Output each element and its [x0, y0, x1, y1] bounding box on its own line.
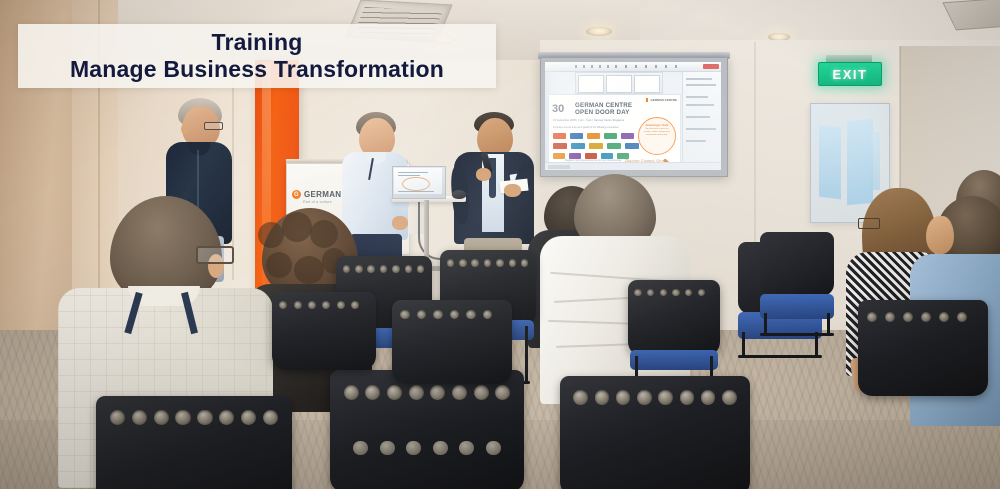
chair-front-center [330, 370, 524, 489]
exit-sign: EXIT [818, 62, 882, 86]
chair-mid-right [628, 280, 720, 356]
scavenger-hunt-body: Join the hunt across the centre, collect… [644, 128, 669, 136]
ceiling-downlight-2 [586, 27, 612, 36]
laptop-slide-graphic [402, 177, 430, 191]
right-hand [504, 184, 521, 197]
photo-scene: 30 GERMAN CENTRE OPEN DOOR DAY GERMAN CE… [0, 0, 1000, 489]
eyeglasses [858, 218, 880, 229]
slide-subtitle: 23 September 2025 | 1 pm - 5 pm | German… [553, 119, 624, 123]
eyeglasses [196, 246, 234, 264]
projected-slide: 30 GERMAN CENTRE OPEN DOOR DAY GERMAN CE… [545, 62, 721, 170]
german-centre-mark: G [292, 190, 301, 199]
scavenger-hunt-heading: Scavenger Hunt [643, 124, 671, 127]
face-profile [926, 216, 954, 254]
slide-thumbnail-strip [575, 72, 663, 94]
chair-front-left [96, 396, 292, 489]
slide-note: Exclusive access and event guide for the… [553, 126, 619, 129]
anniversary-mark: 30 [552, 103, 564, 115]
hand [392, 216, 408, 230]
computer-mouse[interactable] [452, 190, 466, 199]
laptop-screen [394, 168, 442, 194]
title-line-1: Training [211, 29, 302, 55]
powerpoint-status-bar [545, 162, 721, 170]
chair-mid-row-left [272, 292, 376, 370]
ear [181, 124, 188, 134]
chair-front-right [560, 376, 750, 489]
present-button[interactable] [703, 64, 719, 69]
magnifier-graphic: Scavenger Hunt Join the hunt across the … [638, 117, 676, 155]
powerpoint-ribbon [545, 62, 721, 72]
slide-side-panel [682, 72, 721, 164]
laptop[interactable] [392, 166, 444, 198]
slide-title: GERMAN CENTRE OPEN DOOR DAY [575, 102, 632, 116]
title-overlay-card: Training Manage Business Transformation [18, 24, 496, 88]
window-reflection [819, 125, 841, 200]
slide-canvas: 30 GERMAN CENTRE OPEN DOOR DAY GERMAN CE… [548, 94, 681, 168]
window-reflection [871, 132, 880, 190]
title-line-2: Manage Business Transformation [70, 56, 444, 83]
sponsor-logo-row-1 [553, 133, 645, 140]
slide-brand-badge: GERMAN CENTRE [646, 98, 677, 102]
sponsor-logo-row-2 [553, 143, 653, 150]
exit-sign-label: EXIT [833, 67, 868, 82]
chair-right-front [858, 300, 988, 396]
german-centre-tagline: Part of a culture [303, 200, 332, 204]
chair-mid-row-right [392, 300, 512, 384]
slide-title-line1: GERMAN CENTRE [575, 102, 632, 109]
left-hand [476, 168, 491, 181]
eyeglasses [204, 122, 223, 130]
slide-title-line2: OPEN DOOR DAY [575, 109, 632, 116]
scavenger-hunt-callout: Scavenger Hunt Join the hunt across the … [643, 124, 671, 137]
chair-empty-right-mid [760, 232, 834, 336]
